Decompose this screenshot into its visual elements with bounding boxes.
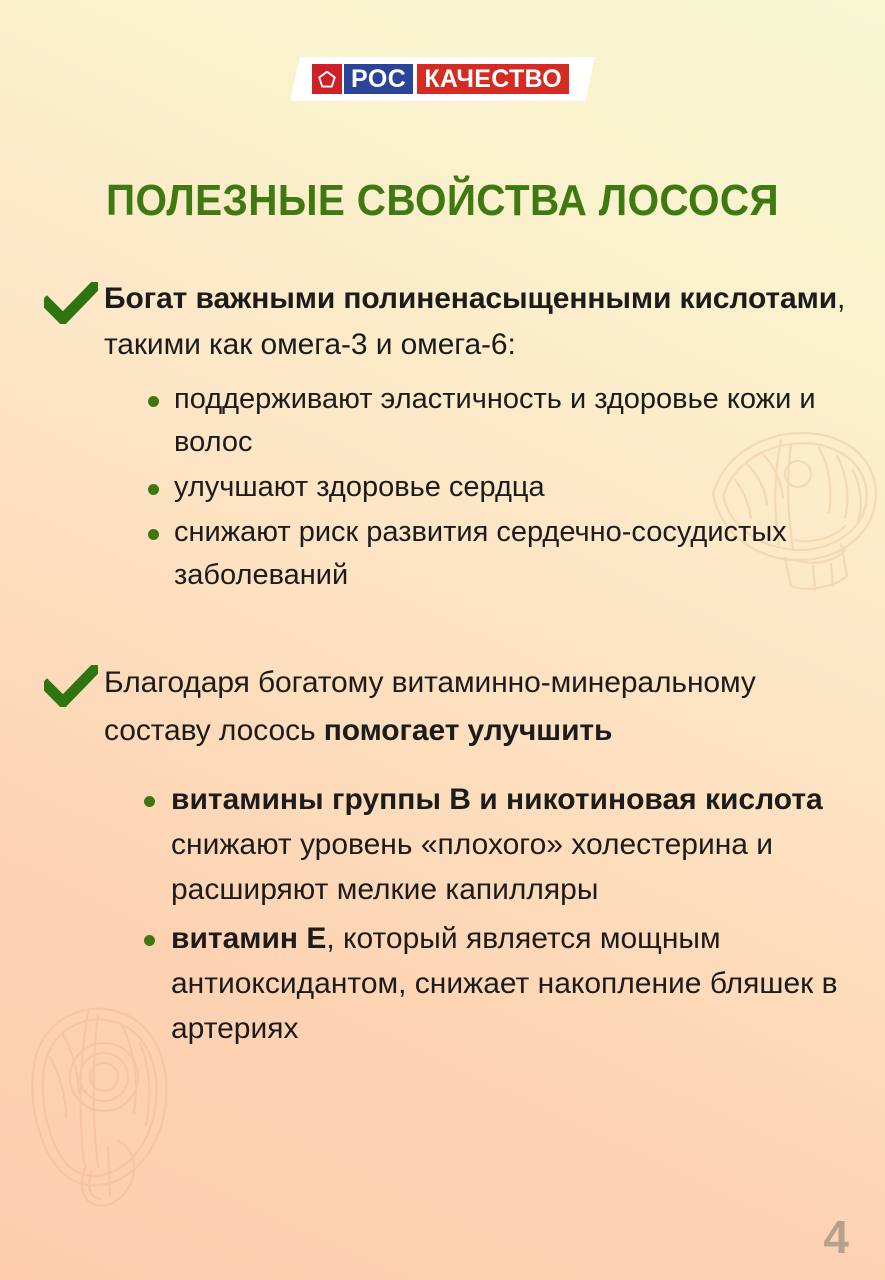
benefit-sublist-vitamins: витамины группы В и никотиновая кислота … [44, 777, 851, 1051]
benefit-lead-bold: помогает улучшить [324, 714, 613, 747]
brand-logo: РОС КАЧЕСТВО [0, 57, 885, 101]
check-icon [44, 282, 104, 324]
list-item-bold: витамин Е [171, 922, 326, 955]
list-item: витамины группы В и никотиновая кислота … [144, 777, 851, 912]
logo-text-kachestvo: КАЧЕСТВО [417, 64, 569, 94]
benefit-lead-text: Благодаря богатому витаминно-минеральном… [104, 659, 851, 755]
benefit-block-omega: Богат важными полиненасыщенными кислотам… [44, 276, 851, 597]
benefit-lead-row: Богат важными полиненасыщенными кислотам… [44, 276, 851, 368]
list-item: витамин Е, который является мощным антио… [144, 916, 851, 1051]
page-number: 4 [823, 1214, 849, 1260]
benefit-block-vitamins: Благодаря богатому витаминно-минеральном… [44, 659, 851, 1051]
content-area: Богат важными полиненасыщенными кислотам… [0, 276, 885, 1055]
logo-plate: РОС КАЧЕСТВО [290, 57, 595, 101]
list-item-text: поддерживают эластичность и здоровье кож… [174, 383, 816, 458]
list-item-text: снижают риск развития сердечно-сосудисты… [174, 516, 787, 591]
list-item: поддерживают эластичность и здоровье кож… [148, 378, 851, 464]
logo-text-ros: РОС [344, 64, 413, 94]
list-item-text: снижают уровень «плохого» холестерина и … [171, 828, 773, 906]
page-title: ПОЛЕЗНЫЕ СВОЙСТВА ЛОСОСЯ [35, 176, 849, 226]
list-item: улучшают здоровье сердца [148, 466, 851, 509]
poster-canvas: РОС КАЧЕСТВО ПОЛЕЗНЫЕ СВОЙСТВА ЛОСОСЯ Бо… [0, 0, 885, 1280]
list-item-text: улучшают здоровье сердца [174, 471, 545, 503]
check-icon [44, 665, 104, 707]
pentagon-icon [312, 64, 342, 94]
list-item-bold: витамины группы В и никотиновая кислота [171, 783, 823, 816]
benefit-lead-text: Богат важными полиненасыщенными кислотам… [104, 276, 851, 368]
list-item: снижают риск развития сердечно-сосудисты… [148, 511, 851, 597]
benefit-lead-bold: Богат важными полиненасыщенными кислотам… [104, 282, 837, 315]
benefit-lead-row: Благодаря богатому витаминно-минеральном… [44, 659, 851, 755]
benefit-sublist-omega: поддерживают эластичность и здоровье кож… [44, 378, 851, 597]
